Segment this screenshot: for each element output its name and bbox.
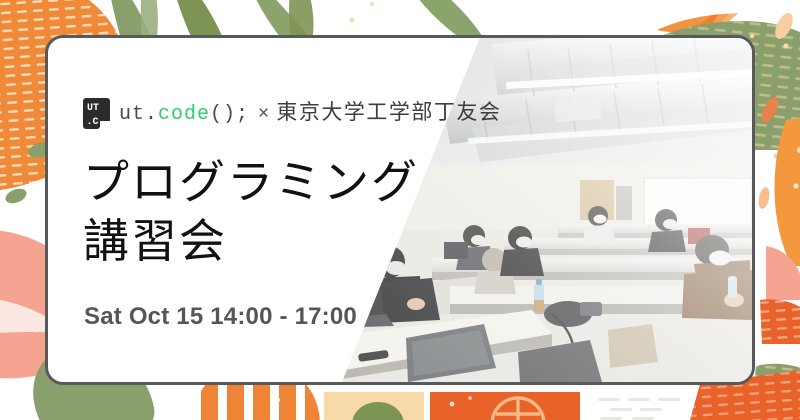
title-line-2: 講習会 <box>83 212 419 271</box>
partner-organization-name: 東京大学工学部丁友会 <box>276 100 501 124</box>
brand-text: ut.code();×東京大学工学部丁友会 <box>119 102 501 125</box>
brand-name-code: code <box>158 103 210 126</box>
poster-card: UT .C ut.code();×東京大学工学部丁友会 プログラミング 講習会 … <box>45 35 755 385</box>
page-title: プログラミング 講習会 <box>83 153 419 271</box>
title-line-1: プログラミング <box>83 153 419 212</box>
event-schedule: Sat Oct 15 14:00 - 17:00 <box>84 303 357 331</box>
svg-text:UT: UT <box>87 103 99 114</box>
brand-name-suffix: (); <box>210 103 249 126</box>
utcode-logo-icon: UT .C <box>83 98 110 129</box>
brand-name-prefix: ut. <box>119 103 158 126</box>
brand-row: UT .C ut.code();×東京大学工学部丁友会 <box>83 98 501 129</box>
svg-text:.C: .C <box>87 117 99 128</box>
event-poster: UT .C ut.code();×東京大学工学部丁友会 プログラミング 講習会 … <box>0 0 800 420</box>
cross-symbol-icon: × <box>258 103 269 124</box>
